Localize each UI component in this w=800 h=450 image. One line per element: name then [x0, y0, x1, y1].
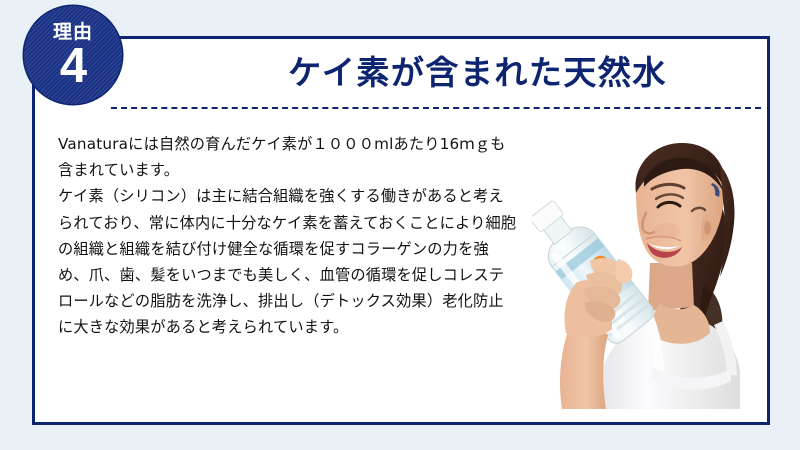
- photo-illustration: [532, 135, 740, 409]
- title-zone: ケイ素が含まれた天然水: [35, 39, 773, 123]
- woman-drinking-water-photo: [532, 135, 740, 409]
- page-title: ケイ素が含まれた天然水: [205, 53, 750, 93]
- badge-number: 4: [60, 43, 86, 90]
- title-dashed-divider: [111, 107, 761, 109]
- body-text: Vanaturaには自然の育んだケイ素が１０００mlあたり16ｍｇも含まれていま…: [58, 131, 518, 341]
- body-paragraph-1: Vanaturaには自然の育んだケイ素が１０００mlあたり16ｍｇも含まれていま…: [58, 131, 518, 183]
- body-paragraph-2: ケイ素（シリコン）は主に結合組織を強くする働きがあると考えられており、常に体内に…: [58, 183, 518, 340]
- content-card: ケイ素が含まれた天然水 Vanaturaには自然の育んだケイ素が１０００mlあた…: [32, 36, 770, 425]
- reason-badge: 理由 4: [24, 6, 122, 104]
